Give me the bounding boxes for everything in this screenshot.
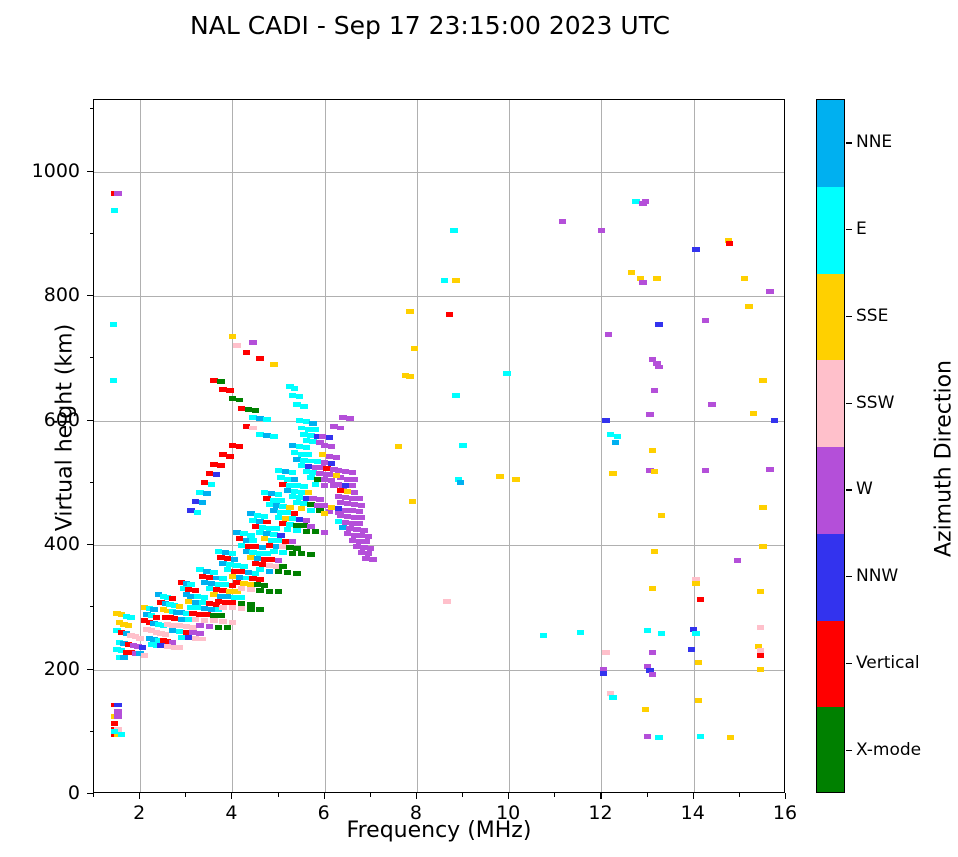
colorbar-tick	[846, 489, 852, 490]
page-title: NAL CADI - Sep 17 23:15:00 2023 UTC	[0, 11, 860, 40]
colorbar-label-nne: NNE	[856, 132, 892, 152]
x-axis-label: Frequency (MHz)	[93, 818, 785, 843]
colorbar-label-nnw: NNW	[856, 566, 898, 586]
x-tick	[785, 793, 786, 799]
colorbar-label-sse: SSE	[856, 306, 888, 326]
colorbar-segment-sse	[817, 274, 844, 361]
y-tick-minor	[90, 108, 94, 109]
colorbar-label-ssw: SSW	[856, 393, 894, 413]
y-tick-minor	[90, 731, 94, 732]
colorbar-segment-ssw	[817, 360, 844, 447]
y-axis-label: Virtual height (km)	[53, 81, 78, 775]
x-tick	[508, 793, 509, 799]
colorbar-title: Azimuth Direction	[932, 112, 957, 806]
y-tick	[87, 544, 93, 545]
colorbar-tick	[846, 576, 852, 577]
y-tick-minor	[90, 482, 94, 483]
x-tick-minor	[185, 793, 186, 797]
axis-ticks: 24681012141602004006008001000	[93, 99, 785, 793]
x-tick-minor	[647, 793, 648, 797]
y-tick-label: 0	[68, 782, 80, 804]
x-tick	[600, 793, 601, 799]
colorbar-segment-nne	[817, 100, 844, 187]
colorbar-tick	[846, 663, 852, 664]
x-tick	[693, 793, 694, 799]
colorbar-tick	[846, 750, 852, 751]
x-tick-minor	[278, 793, 279, 797]
x-tick-minor	[370, 793, 371, 797]
y-tick-minor	[90, 606, 94, 607]
colorbar-segment-e	[817, 187, 844, 274]
figure-canvas: NAL CADI - Sep 17 23:15:00 2023 UTC 2468…	[0, 0, 958, 857]
colorbar-label-vertical: Vertical	[856, 653, 920, 673]
colorbar-segment-nnw	[817, 534, 844, 621]
colorbar-tick	[846, 229, 852, 230]
colorbar-label-w: W	[856, 479, 873, 499]
x-tick	[416, 793, 417, 799]
x-tick-minor	[554, 793, 555, 797]
colorbar-label-e: E	[856, 219, 867, 239]
x-tick	[231, 793, 232, 799]
colorbar-tick	[846, 403, 852, 404]
y-tick	[87, 420, 93, 421]
x-tick-minor	[462, 793, 463, 797]
y-tick	[87, 793, 93, 794]
colorbar-segment-vertical	[817, 621, 844, 708]
colorbar-tick	[846, 142, 852, 143]
y-tick-minor	[90, 357, 94, 358]
y-tick	[87, 171, 93, 172]
x-tick	[324, 793, 325, 799]
colorbar-label-x-mode: X-mode	[856, 740, 921, 760]
colorbar-segment-x-mode	[817, 707, 844, 793]
y-tick	[87, 295, 93, 296]
colorbar	[816, 99, 845, 793]
x-tick-minor	[93, 793, 94, 797]
colorbar-segment-w	[817, 447, 844, 534]
y-tick	[87, 669, 93, 670]
x-tick-minor	[739, 793, 740, 797]
x-tick	[139, 793, 140, 799]
colorbar-tick	[846, 316, 852, 317]
y-tick-minor	[90, 233, 94, 234]
